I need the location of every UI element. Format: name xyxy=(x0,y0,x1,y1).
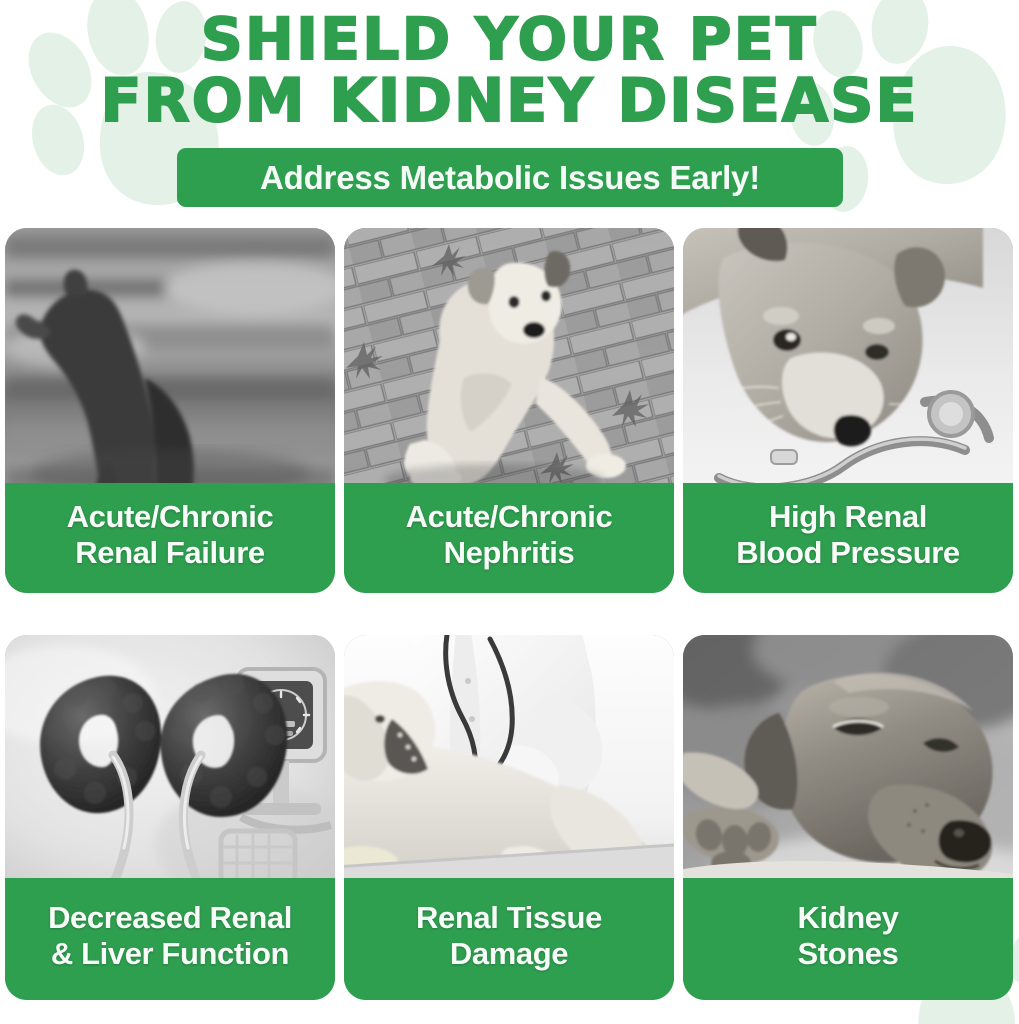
card-label-kidney-stones: Kidney Stones xyxy=(683,878,1013,1000)
page-title-line-2: From Kidney Disease xyxy=(0,70,1019,132)
card-image-shiba-stethoscope xyxy=(683,228,1013,496)
card-label-text: Acute/Chronic Nephritis xyxy=(406,499,613,571)
card-label-high-renal-blood-pressure: High Renal Blood Pressure xyxy=(683,483,1013,593)
card-label-acute-chronic-nephritis: Acute/Chronic Nephritis xyxy=(344,483,674,593)
card-row-top: Acute/Chronic Renal Failure xyxy=(5,228,1014,593)
card-label-text: Acute/Chronic Renal Failure xyxy=(67,499,274,571)
poster-root: Shield Your Pet From Kidney Disease Addr… xyxy=(0,0,1019,1024)
page-title-line-1: Shield Your Pet xyxy=(0,8,1019,70)
card-image-thin-dog xyxy=(5,228,335,496)
card-high-renal-blood-pressure[interactable]: High Renal Blood Pressure xyxy=(683,228,1013,593)
card-decreased-renal-liver-function[interactable]: Decreased Renal & Liver Function xyxy=(5,635,335,1000)
condition-card-grid: Acute/Chronic Renal Failure xyxy=(5,228,1014,1024)
card-image-resting-dog xyxy=(683,635,1013,891)
card-label-renal-tissue-damage: Renal Tissue Damage xyxy=(344,878,674,1000)
card-acute-chronic-nephritis[interactable]: Acute/Chronic Nephritis xyxy=(344,228,674,593)
card-image-kidneys-monitor xyxy=(5,635,335,891)
card-image-scratching-dog xyxy=(344,228,674,496)
card-row-bottom: Decreased Renal & Liver Function xyxy=(5,635,1014,1000)
card-label-decreased-renal-liver-function: Decreased Renal & Liver Function xyxy=(5,878,335,1000)
card-acute-chronic-renal-failure[interactable]: Acute/Chronic Renal Failure xyxy=(5,228,335,593)
subtitle-banner: Address Metabolic Issues Early! xyxy=(177,148,843,207)
card-renal-tissue-damage[interactable]: Renal Tissue Damage xyxy=(344,635,674,1000)
card-label-text: High Renal Blood Pressure xyxy=(736,499,960,571)
card-label-acute-chronic-renal-failure: Acute/Chronic Renal Failure xyxy=(5,483,335,593)
card-label-text: Renal Tissue Damage xyxy=(416,900,602,972)
page-title: Shield Your Pet From Kidney Disease xyxy=(0,8,1019,132)
card-image-vet-exam xyxy=(344,635,674,891)
card-label-text: Kidney Stones xyxy=(798,900,899,972)
poster-header: Shield Your Pet From Kidney Disease Addr… xyxy=(0,0,1019,222)
subtitle-text: Address Metabolic Issues Early! xyxy=(260,160,760,196)
card-kidney-stones[interactable]: Kidney Stones xyxy=(683,635,1013,1000)
card-label-text: Decreased Renal & Liver Function xyxy=(48,900,292,972)
